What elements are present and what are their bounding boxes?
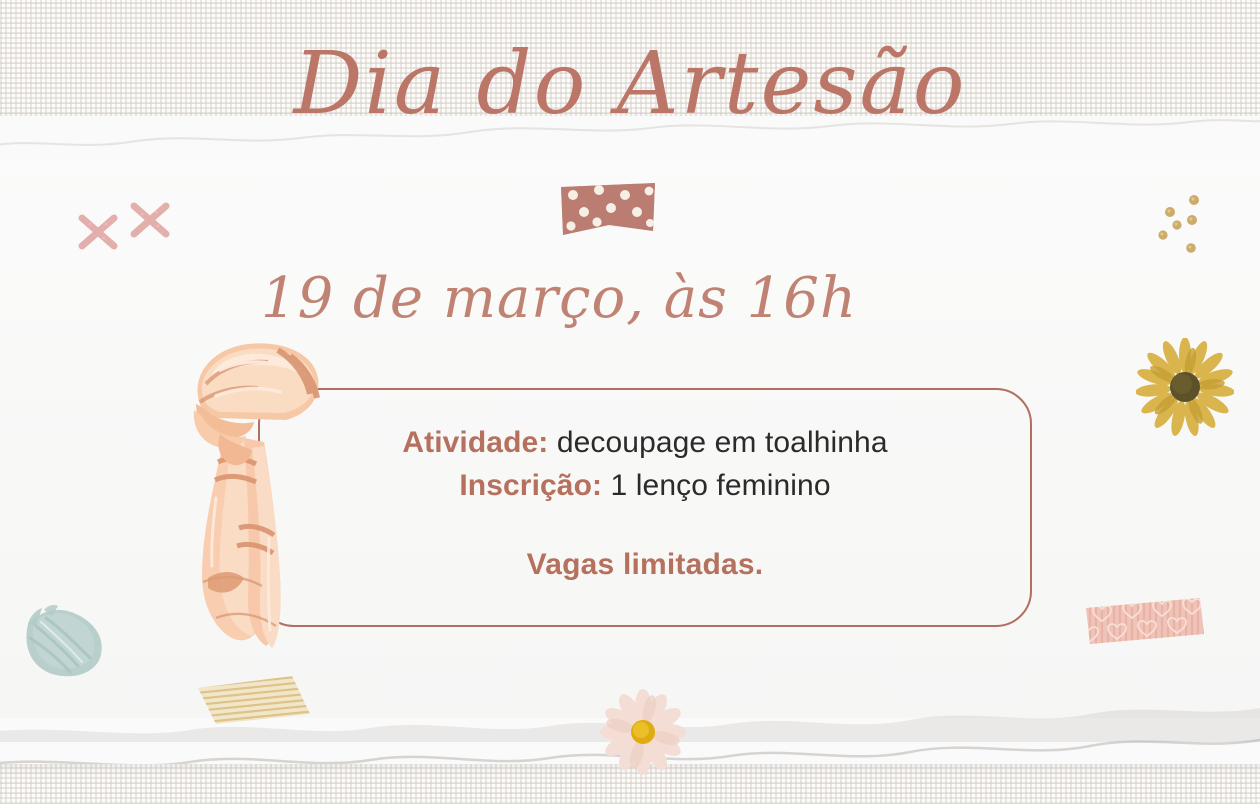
registration-line: Inscrição: 1 lenço feminino bbox=[284, 465, 1006, 508]
poster-canvas: Dia do Artesão 19 de março, às 16h Ativi… bbox=[0, 0, 1260, 804]
glitter-x-marks-icon bbox=[70, 196, 180, 256]
limited-spots-note: Vagas limitadas. bbox=[284, 548, 1006, 582]
activity-value: decoupage em toalhinha bbox=[548, 426, 887, 459]
pink-heart-washi-tape-icon bbox=[1084, 596, 1206, 646]
pressed-sunflower-icon bbox=[1136, 338, 1234, 436]
registration-label: Inscrição: bbox=[459, 469, 602, 502]
poster-title: Dia do Artesão bbox=[0, 34, 1260, 134]
polka-dot-washi-tape-icon bbox=[557, 179, 659, 239]
pressed-daisy-icon bbox=[597, 688, 689, 776]
teal-brush-stroke-icon bbox=[14, 596, 114, 682]
registration-value: 1 lenço feminino bbox=[602, 469, 831, 502]
poster-date: 19 de março, às 16h bbox=[0, 266, 1118, 331]
headscarf-illustration bbox=[186, 338, 322, 654]
gold-glitter-dots-icon bbox=[1150, 192, 1220, 254]
activity-line: Atividade: decoupage em toalhinha bbox=[284, 422, 1006, 465]
activity-label: Atividade: bbox=[402, 426, 548, 459]
cream-striped-washi-tape-icon bbox=[196, 674, 312, 726]
